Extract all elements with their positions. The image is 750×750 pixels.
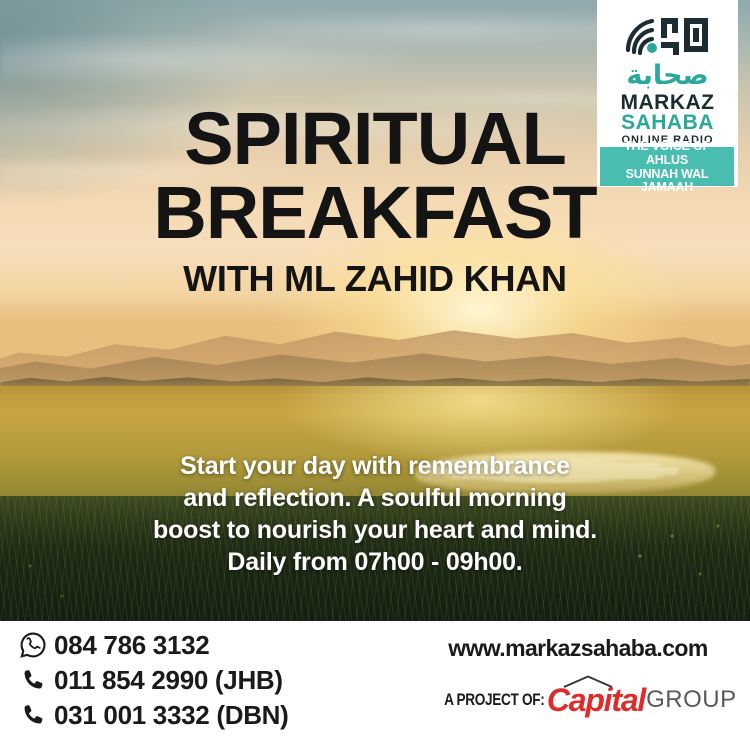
description-line-1: Start your day with remembrance [50, 450, 700, 482]
contact-number-whatsapp: 084 786 3132 [54, 630, 209, 661]
description-line-3: boost to nourish your heart and mind. [50, 514, 700, 546]
phone-icon [18, 665, 48, 695]
description-line-4: Daily from 07h00 - 09h00. [50, 546, 700, 578]
phone-icon [18, 700, 48, 730]
promotional-poster: SPIRITUAL BREAKFAST WITH ML ZAHID KHAN S… [0, 0, 750, 750]
sponsor-suffix-group: GROUP [646, 688, 737, 712]
contact-number-dbn: 031 001 3332 (DBN) [54, 700, 289, 731]
slogan-line-2: SUNNAH WAL JAMAAH [603, 167, 732, 195]
whatsapp-icon [18, 630, 48, 660]
contact-row-whatsapp[interactable]: 084 786 3132 [18, 629, 289, 661]
wifi-signal-icon [597, 14, 738, 65]
sponsor-name-capital: Capital [547, 682, 645, 718]
website-url[interactable]: www.markazsahaba.com [420, 635, 736, 662]
sponsor-credit: A PROJECT OF: Capital GROUP [420, 684, 736, 716]
contact-row-jhb[interactable]: 011 854 2990 (JHB) [18, 664, 289, 696]
slogan-line-1: THE VOICE OF AHLUS [603, 139, 732, 167]
contact-list: 084 786 3132 011 854 2990 (JHB) 031 001 … [18, 629, 289, 734]
logo-name-sahaba: SAHABA [597, 112, 738, 133]
capital-group-logo: Capital [547, 684, 645, 716]
contact-row-dbn[interactable]: 031 001 3332 (DBN) [18, 699, 289, 731]
project-of-label: A PROJECT OF: [444, 690, 544, 710]
contact-footer: 084 786 3132 011 854 2990 (JHB) 031 001 … [0, 621, 750, 750]
description-text: Start your day with remembrance and refl… [50, 450, 700, 578]
logo-name-markaz: MARKAZ [597, 92, 738, 113]
logo-arabic-script: صحابة [597, 62, 738, 89]
title-subtitle-presenter: WITH ML ZAHID KHAN [0, 259, 750, 299]
brand-links: www.markazsahaba.com A PROJECT OF: Capit… [420, 635, 736, 716]
logo-slogan-banner: THE VOICE OF AHLUS SUNNAH WAL JAMAAH [600, 147, 734, 186]
description-line-2: and reflection. A soulful morning [50, 482, 700, 514]
contact-number-jhb: 011 854 2990 (JHB) [54, 665, 283, 696]
